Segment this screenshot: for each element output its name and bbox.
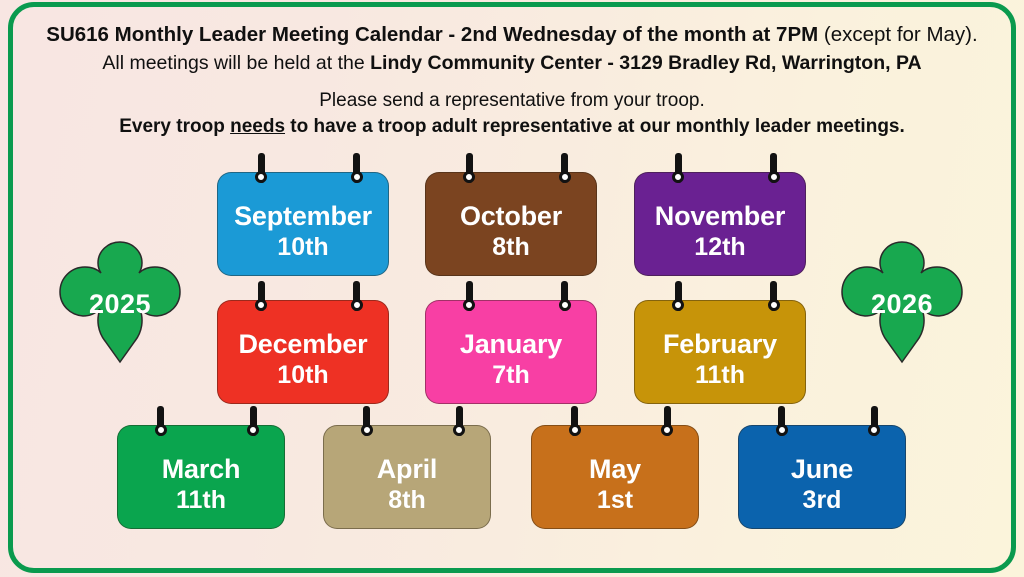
card-month-label: September xyxy=(234,202,372,230)
card-day-label: 11th xyxy=(695,362,745,388)
binding-ring-right-icon xyxy=(559,281,571,321)
header-line-1: SU616 Monthly Leader Meeting Calendar - … xyxy=(0,22,1024,49)
header-line-4-b: to have a troop adult representative at … xyxy=(285,116,905,137)
card-day-label: 7th xyxy=(492,362,530,388)
calendar-card-september[interactable]: September 10th xyxy=(217,172,389,276)
card-month-label: January xyxy=(460,330,562,358)
calendar-card-february[interactable]: February 11th xyxy=(634,300,806,404)
card-day-label: 8th xyxy=(492,234,530,260)
binding-ring-left-icon xyxy=(672,281,684,321)
header-line-2-plain: All meetings will be held at the xyxy=(102,52,370,74)
card-month-label: April xyxy=(377,455,438,483)
header-line-2-bold: Lindy Community Center - 3129 Bradley Rd… xyxy=(370,52,922,74)
card-day-label: 12th xyxy=(694,234,745,260)
badge-year-label: 2026 xyxy=(834,238,970,364)
card-day-label: 10th xyxy=(277,362,328,388)
binding-ring-right-icon xyxy=(768,153,780,193)
binding-ring-right-icon xyxy=(768,281,780,321)
trefoil-badge-2026: 2026 xyxy=(834,238,970,364)
header-line-4-a: Every troop xyxy=(119,116,230,137)
header-line-1-bold: SU616 Monthly Leader Meeting Calendar - … xyxy=(46,23,818,46)
poster-header: SU616 Monthly Leader Meeting Calendar - … xyxy=(0,22,1024,139)
card-month-label: May xyxy=(589,455,641,483)
card-day-label: 11th xyxy=(176,487,226,513)
header-line-4-underline: needs xyxy=(230,116,285,137)
meeting-calendar-poster: SU616 Monthly Leader Meeting Calendar - … xyxy=(0,0,1024,577)
binding-ring-left-icon xyxy=(672,153,684,193)
card-day-label: 1st xyxy=(597,487,633,513)
calendar-card-may[interactable]: May 1st xyxy=(531,425,699,529)
binding-ring-right-icon xyxy=(247,406,259,446)
binding-ring-left-icon xyxy=(463,153,475,193)
badge-year-label: 2025 xyxy=(52,238,188,364)
card-month-label: March xyxy=(162,455,241,483)
calendar-card-january[interactable]: January 7th xyxy=(425,300,597,404)
binding-ring-right-icon xyxy=(661,406,673,446)
binding-ring-right-icon xyxy=(559,153,571,193)
calendar-card-april[interactable]: April 8th xyxy=(323,425,491,529)
binding-ring-left-icon xyxy=(776,406,788,446)
binding-ring-right-icon xyxy=(351,281,363,321)
calendar-card-november[interactable]: November 12th xyxy=(634,172,806,276)
binding-ring-right-icon xyxy=(453,406,465,446)
binding-ring-right-icon xyxy=(868,406,880,446)
card-month-label: December xyxy=(239,330,368,358)
calendar-card-march[interactable]: March 11th xyxy=(117,425,285,529)
card-month-label: February xyxy=(663,330,777,358)
binding-ring-left-icon xyxy=(569,406,581,446)
header-line-1-plain: (except for May). xyxy=(818,23,978,46)
card-day-label: 10th xyxy=(277,234,328,260)
card-month-label: June xyxy=(791,455,853,483)
trefoil-badge-2025: 2025 xyxy=(52,238,188,364)
binding-ring-left-icon xyxy=(255,281,267,321)
binding-ring-right-icon xyxy=(351,153,363,193)
calendar-card-october[interactable]: October 8th xyxy=(425,172,597,276)
binding-ring-left-icon xyxy=(463,281,475,321)
binding-ring-left-icon xyxy=(361,406,373,446)
header-line-2: All meetings will be held at the Lindy C… xyxy=(0,51,1024,76)
card-day-label: 8th xyxy=(388,487,426,513)
header-line-3: Please send a representative from your t… xyxy=(0,89,1024,114)
header-line-4: Every troop needs to have a troop adult … xyxy=(0,115,1024,140)
card-month-label: October xyxy=(460,202,562,230)
card-day-label: 3rd xyxy=(803,487,842,513)
binding-ring-left-icon xyxy=(155,406,167,446)
calendar-card-december[interactable]: December 10th xyxy=(217,300,389,404)
calendar-card-june[interactable]: June 3rd xyxy=(738,425,906,529)
binding-ring-left-icon xyxy=(255,153,267,193)
card-month-label: November xyxy=(655,202,785,230)
